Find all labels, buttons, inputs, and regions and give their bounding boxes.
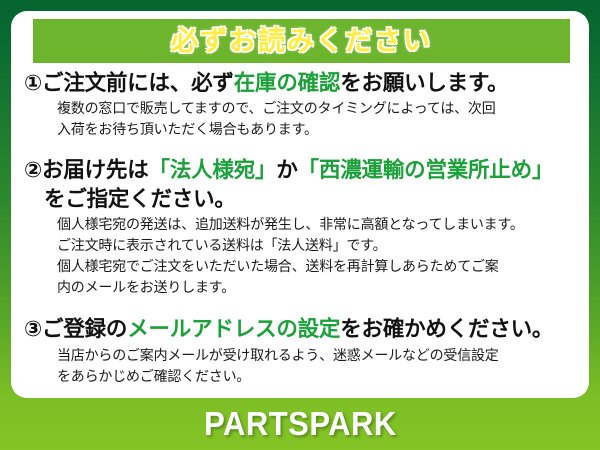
section-1-heading-part-1: ご注文前には、必ず <box>42 71 234 95</box>
section-2-body-line-4: 内のメールをお送りします。 <box>57 277 580 298</box>
section-2-body-line-2: ご注文時に表示されている送料は「法人送料」です。 <box>57 235 580 256</box>
section-2-number: ② <box>24 158 42 182</box>
banner-title: 必ずお読みください <box>171 28 432 55</box>
partspark-logo: PARTSPARK <box>204 405 397 443</box>
section-3-heading: ③ご登録のメールアドレスの設定をお確かめください。 <box>24 315 580 343</box>
section-1-body: 複数の窓口で販売してますので、ご注文のタイミングによっては、次回 入荷をお待ち頂… <box>24 98 580 140</box>
section-1-heading: ①ご注文前には、必ず在庫の確認をお願いします。 <box>24 69 580 97</box>
section-1-body-line-1: 複数の窓口で販売してますので、ご注文のタイミングによっては、次回 <box>57 98 580 119</box>
section-2-body: 個人様宅宛の発送は、追加送料が発生し、非常に高額となってしまいます。 ご注文時に… <box>24 214 580 298</box>
section-3-number: ③ <box>24 317 42 341</box>
section-2-body-line-3: 個人様宅宛でご注文をいただいた場合、送料を再計算しあらためてご案 <box>57 256 580 277</box>
notice-section-1: ①ご注文前には、必ず在庫の確認をお願いします。 複数の窓口で販売してますので、ご… <box>24 69 580 140</box>
section-1-heading-highlight: 在庫の確認 <box>234 71 341 95</box>
section-1-number: ① <box>24 71 42 95</box>
notice-content: ①ご注文前には、必ず在庫の確認をお願いします。 複数の窓口で販売してますので、ご… <box>24 69 580 389</box>
title-banner: 必ずお読みください <box>33 19 570 63</box>
footer-logo-area: PARTSPARK <box>0 398 600 450</box>
section-2-heading-part-3: か <box>276 158 297 182</box>
notice-section-3: ③ご登録のメールアドレスの設定をお確かめください。 当店からのご案内メールが受け… <box>24 315 580 386</box>
section-2-heading-highlight-1: 「法人様宛」 <box>149 158 277 182</box>
notice-section-2: ②お届け先は「法人様宛」か「西濃運輸の営業所止め」 をご指定ください。 個人様宅… <box>24 156 580 298</box>
white-card: 必ずお読みください ①ご注文前には、必ず在庫の確認をお願いします。 複数の窓口で… <box>11 11 589 398</box>
section-3-body: 当店からのご案内メールが受け取れるよう、迷惑メールなどの受信設定 をあらかじめご… <box>24 345 580 387</box>
section-2-body-line-1: 個人様宅宛の発送は、追加送料が発生し、非常に高額となってしまいます。 <box>57 214 580 235</box>
section-3-body-line-1: 当店からのご案内メールが受け取れるよう、迷惑メールなどの受信設定 <box>57 345 580 366</box>
section-2-heading-part-1: お届け先は <box>42 158 149 182</box>
section-2-heading-line-2: をご指定ください。 <box>24 185 580 213</box>
section-2-heading: ②お届け先は「法人様宛」か「西濃運輸の営業所止め」 <box>24 156 580 184</box>
section-1-heading-part-3: をお願いします。 <box>340 71 508 95</box>
notice-banner: 必ずお読みください ①ご注文前には、必ず在庫の確認をお願いします。 複数の窓口で… <box>0 0 600 450</box>
section-3-heading-part-3: をお確かめください。 <box>340 317 553 341</box>
section-2-heading-highlight-2: 「西濃運輸の営業所止め」 <box>298 158 554 182</box>
section-3-body-line-2: をあらかじめご確認ください。 <box>57 366 580 387</box>
section-3-heading-highlight: メールアドレスの設定 <box>127 317 340 341</box>
section-1-body-line-2: 入荷をお待ち頂いただく場合もあります。 <box>57 119 580 140</box>
section-3-heading-part-1: ご登録の <box>42 317 127 341</box>
